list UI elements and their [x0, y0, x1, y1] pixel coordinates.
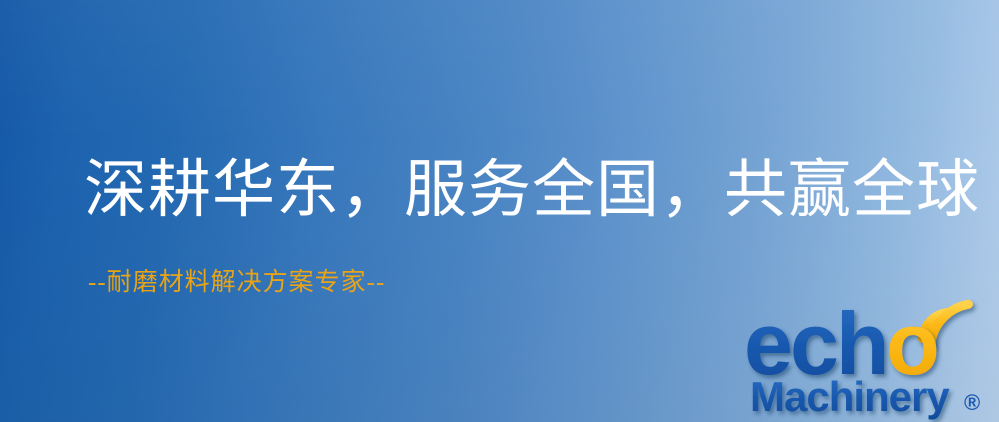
logo-registered-mark: ® [964, 390, 980, 415]
banner-headline: 深耕华东，服务全国，共赢全球 [84, 152, 980, 228]
promo-banner: 深耕华东，服务全国，共赢全球 --耐磨材料解决方案专家-- [0, 0, 999, 422]
echo-machinery-logo[interactable]: ech o Machinery ® [744, 296, 999, 422]
banner-subheadline: --耐磨材料解决方案专家-- [88, 267, 385, 299]
logo-text-machinery: Machinery [750, 373, 950, 420]
